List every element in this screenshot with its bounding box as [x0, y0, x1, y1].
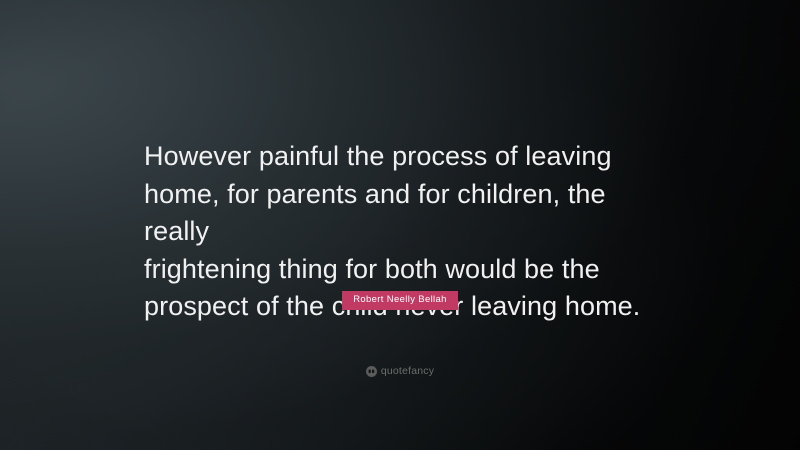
author-name-badge[interactable]: Robert Neelly Bellah: [342, 291, 458, 310]
watermark[interactable]: quotefancy: [0, 366, 800, 377]
author-badge-container: Robert Neelly Bellah: [0, 291, 800, 310]
quote-image-canvas: However painful the process of leaving h…: [0, 0, 800, 450]
watermark-brand-label: quotefancy: [381, 366, 434, 377]
quote-marks-circle-icon: [366, 366, 377, 377]
